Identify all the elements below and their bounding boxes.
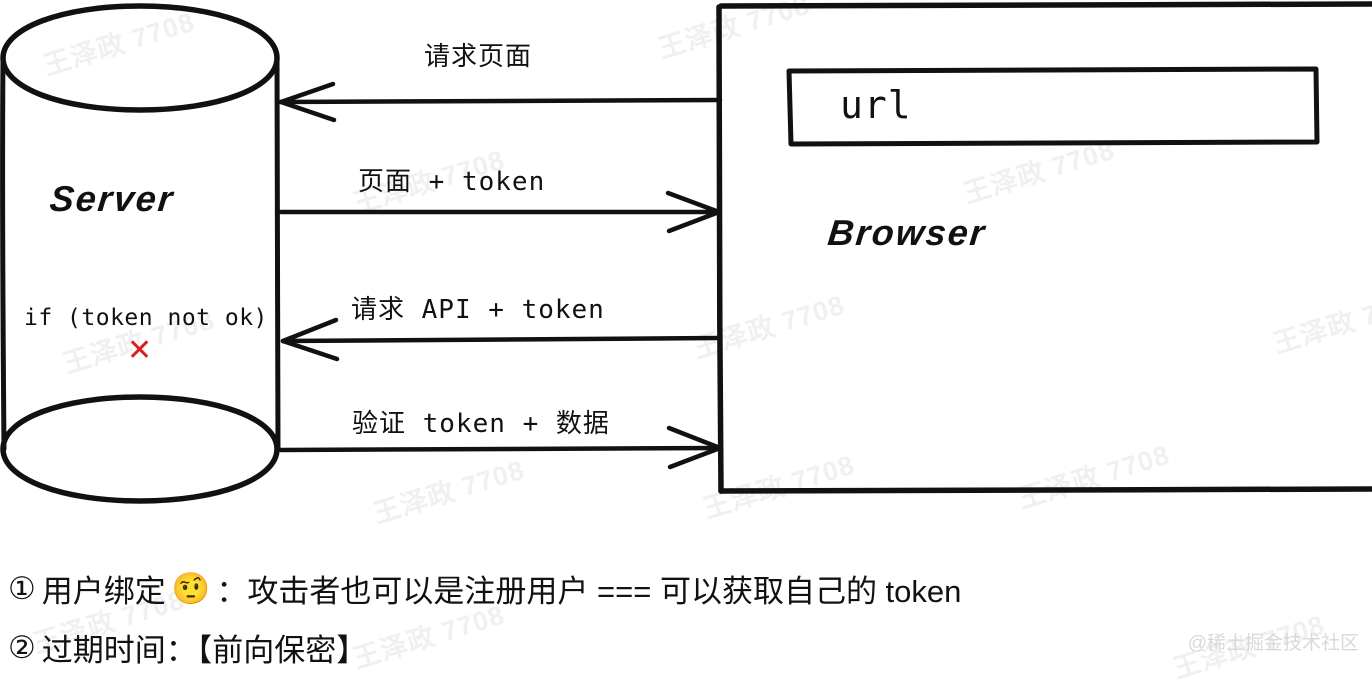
note-marker: ② <box>8 630 36 666</box>
credit-watermark: @稀土掘金技术社区 <box>1188 628 1359 655</box>
note-text-after: ：攻击者也可以是注册用户 === 可以获取自己的 token <box>216 566 961 611</box>
flow-label-request-page: 请求页面 <box>424 36 532 73</box>
watermark-text: 王泽政 7708 <box>688 283 849 366</box>
server-condition-text: if (token not ok) <box>24 305 268 331</box>
flow-label-verify-token-plus-data: 验证 token + 数据 <box>352 403 610 440</box>
flow-arrow-1 <box>281 193 719 231</box>
watermark-text: 王泽政 7708 <box>653 0 814 66</box>
browser-label: Browser <box>826 212 988 254</box>
watermark-text: 王泽政 7708 <box>1268 278 1372 361</box>
flow-label-request-api-plus-token: 请求 API + token <box>351 289 605 326</box>
fail-cross-icon: ✕ <box>127 333 152 368</box>
watermark-text: 王泽政 7708 <box>38 0 199 83</box>
url-input[interactable]: url <box>840 83 912 127</box>
server-label: Server <box>48 178 177 220</box>
watermark-text: 王泽政 7708 <box>698 443 859 526</box>
flow-arrow-0 <box>281 84 720 120</box>
note-marker: ① <box>8 571 36 607</box>
note-text-before: 过期时间：【前向保密】 <box>42 625 368 670</box>
note-item: ② 过期时间：【前向保密】 <box>8 625 367 670</box>
watermark-text: 王泽政 7708 <box>958 128 1119 211</box>
watermark-text: 王泽政 7708 <box>1013 433 1174 516</box>
flow-label-page-plus-token: 页面 + token <box>358 161 545 198</box>
server-cylinder-shape <box>3 6 278 501</box>
thinking-face-icon: 🤨 <box>172 570 211 607</box>
diagram-canvas: 王泽政 7708 王泽政 7708 王泽政 7708 王泽政 7708 王泽政 … <box>0 0 1372 667</box>
watermark-text: 王泽政 7708 <box>368 448 529 531</box>
browser-box-shape <box>719 4 1372 491</box>
note-item: ① 用户绑定 🤨 ：攻击者也可以是注册用户 === 可以获取自己的 token <box>8 566 961 611</box>
note-text-before: 用户绑定 <box>42 566 166 611</box>
